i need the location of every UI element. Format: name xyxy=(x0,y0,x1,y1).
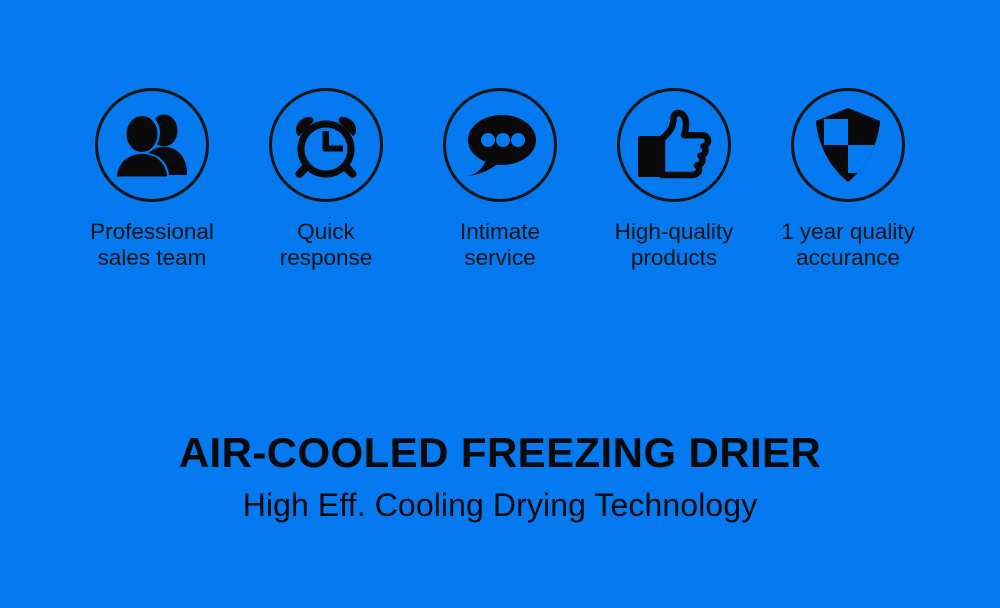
feature-icon-circle xyxy=(269,88,383,202)
product-banner: Professional sales team xyxy=(0,0,1000,608)
feature-item-quality-assurance: 1 year quality accurance xyxy=(761,88,935,271)
two-people-icon xyxy=(115,112,189,178)
page-subtitle: High Eff. Cooling Drying Technology xyxy=(0,482,1000,528)
feature-icon-circle xyxy=(617,88,731,202)
alarm-clock-icon xyxy=(290,109,362,181)
headline-block: AIR-COOLED FREEZING DRIER High Eff. Cool… xyxy=(0,424,1000,528)
feature-label: Quick response xyxy=(280,219,373,271)
page-title: AIR-COOLED FREEZING DRIER xyxy=(0,424,1000,482)
shield-icon xyxy=(813,105,883,185)
feature-label: Professional sales team xyxy=(90,219,214,271)
feature-list: Professional sales team xyxy=(0,88,1000,271)
feature-item-quick-response: Quick response xyxy=(239,88,413,271)
feature-label: Intimate service xyxy=(460,219,540,271)
feature-item-high-quality-products: High-quality products xyxy=(587,88,761,271)
feature-icon-circle xyxy=(95,88,209,202)
feature-label: High-quality products xyxy=(615,219,734,271)
thumbs-up-icon xyxy=(636,109,712,181)
feature-label: 1 year quality accurance xyxy=(781,219,915,271)
feature-item-professional-sales-team: Professional sales team xyxy=(65,88,239,271)
feature-icon-circle xyxy=(791,88,905,202)
feature-item-intimate-service: Intimate service xyxy=(413,88,587,271)
speech-bubble-icon xyxy=(462,112,538,178)
feature-icon-circle xyxy=(443,88,557,202)
